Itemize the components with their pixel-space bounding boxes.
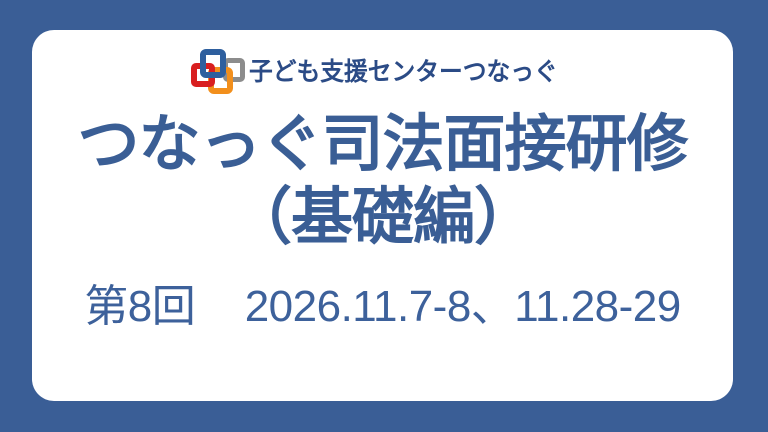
content-card: 子ども支援センターつなっぐ つなっぐ司法面接研修 （基礎編） 第8回 2026.… bbox=[32, 30, 733, 401]
poster-title-line-2: （基礎編） bbox=[32, 183, 733, 252]
poster-title-line-1: つなっぐ司法面接研修 bbox=[32, 110, 733, 179]
tsunagu-logo-mark-icon bbox=[191, 49, 247, 95]
organization-logo: 子ども支援センターつなっぐ bbox=[32, 48, 733, 96]
poster-title: つなっぐ司法面接研修 （基礎編） bbox=[32, 110, 733, 253]
organization-name: 子ども支援センターつなっぐ bbox=[249, 60, 558, 85]
session-number-label: 第8回 bbox=[84, 282, 195, 331]
logo-blue-square-icon bbox=[200, 49, 226, 78]
session-dates: 2026.11.7-8、11.28-29 bbox=[245, 282, 681, 331]
session-schedule: 第8回 2026.11.7-8、11.28-29 bbox=[32, 283, 733, 331]
poster-root: 子ども支援センターつなっぐ つなっぐ司法面接研修 （基礎編） 第8回 2026.… bbox=[0, 0, 768, 432]
